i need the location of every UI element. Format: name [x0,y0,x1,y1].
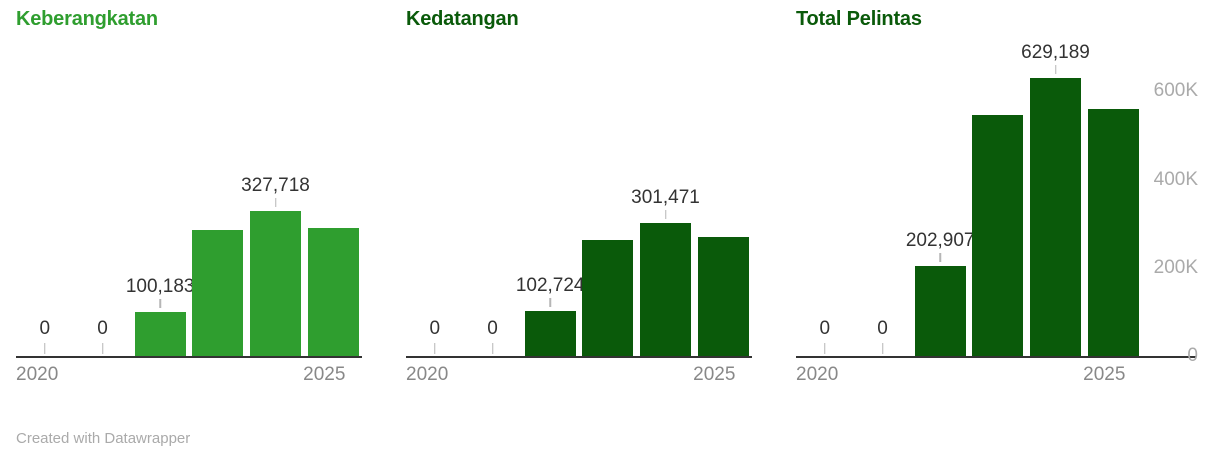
chart-panel-kedatangan: Kedatangan 00102,724301,471 2020 2025 [390,0,780,412]
value-label-stem [492,343,494,354]
panel-title: Total Pelintas [796,8,922,31]
plot-area: 00100,183327,718 [16,46,362,358]
x-tick-label-start: 2020 [406,364,448,386]
bar-slot[interactable] [406,56,464,356]
bar[interactable] [135,312,186,356]
bar-slot[interactable] [131,56,189,356]
bar-slot[interactable] [579,56,637,356]
value-label-stem [102,343,104,354]
x-axis-line [406,356,752,358]
bar-value-label: 327,718 [241,175,310,197]
panel-title: Kedatangan [406,8,518,31]
bar-value-label: 301,471 [631,187,700,209]
bar[interactable] [192,230,243,356]
x-tick-label-end: 2025 [303,364,345,386]
bar[interactable] [308,228,359,356]
value-label-stem [44,343,46,354]
x-axis-line [16,356,362,358]
chart-panel-keberangkatan: Keberangkatan 00100,183327,718 2020 2025 [0,0,390,412]
panel-title: Keberangkatan [16,8,158,31]
x-tick-label-start: 2020 [796,364,838,386]
bar-group: 00100,183327,718 [16,56,362,356]
value-label-stem [275,198,277,207]
bar-slot[interactable] [189,56,247,356]
value-label-stem [665,210,667,219]
bar[interactable] [250,211,301,356]
plot-area: 00102,724301,471 [406,46,752,358]
value-label-stem [159,299,161,308]
bar-slot[interactable] [464,56,522,356]
bar[interactable] [640,223,691,356]
y-tick-label: 0 [1187,345,1198,367]
bar-value-label: 0 [40,318,51,340]
bar-value-label: 102,724 [516,275,585,297]
bar-slot[interactable] [74,56,132,356]
bar-slot[interactable] [304,56,362,356]
bar-value-label: 0 [97,318,108,340]
x-tick-label-end: 2025 [1083,364,1125,386]
y-tick-label: 600K [1154,80,1198,102]
bar-value-label: 0 [430,318,441,340]
chart-panel-total-pelintas: Total Pelintas 00202,907629,189 0200K400… [780,0,1220,412]
bar[interactable] [525,311,576,356]
x-tick-label-end: 2025 [693,364,735,386]
bar-slot[interactable] [521,56,579,356]
bar[interactable] [698,237,749,356]
bar-value-label: 100,183 [126,276,195,298]
bar-slot[interactable] [694,56,752,356]
footer-credit: Created with Datawrapper [16,430,190,447]
bar[interactable] [582,240,633,356]
value-label-stem [549,298,551,307]
bar-slot[interactable] [16,56,74,356]
plot-area: 00202,907629,189 0200K400K600K [796,46,1142,358]
chart-panels: Keberangkatan 00100,183327,718 2020 2025… [0,0,1220,412]
value-label-stem [434,343,436,354]
bar-group: 00102,724301,471 [406,56,752,356]
y-tick-label: 400K [1154,169,1198,191]
y-tick-label: 200K [1154,257,1198,279]
bar-value-label: 0 [487,318,498,340]
y-axis: 0200K400K600K [796,58,1142,358]
x-tick-label-start: 2020 [16,364,58,386]
